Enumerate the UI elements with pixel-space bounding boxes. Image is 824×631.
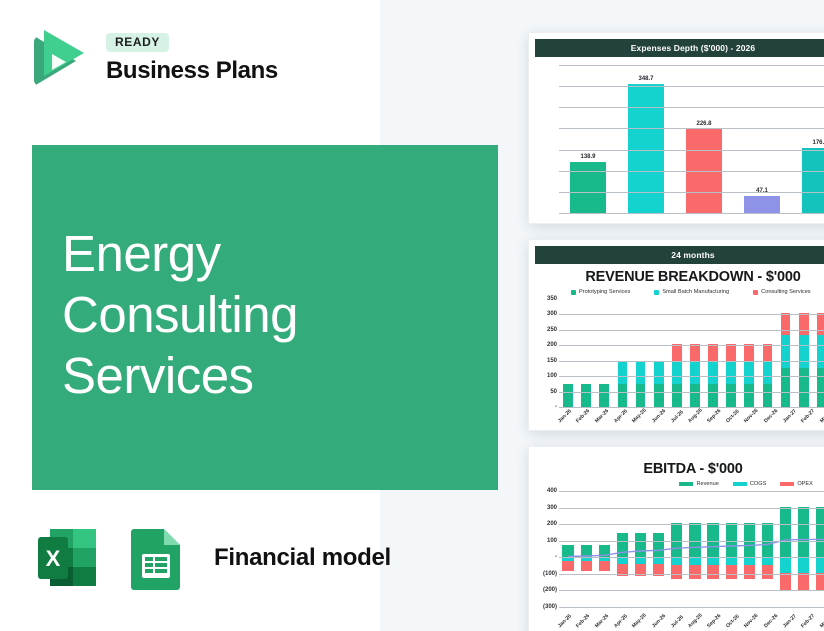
footer-row: X Financial model: [32, 521, 391, 595]
bar-segment: [708, 362, 718, 384]
x-tick-label: Feb-26: [575, 613, 591, 629]
bar-value-label: 348.7: [638, 76, 653, 82]
brand-logo[interactable]: READY Business Plans: [30, 28, 278, 90]
bar-segment: [563, 384, 573, 407]
chart-3-title: EBITDA - $'000: [529, 461, 824, 477]
x-tick-label: Mar-27: [819, 613, 824, 629]
bar-segment: [690, 344, 700, 363]
legend-item: Small Batch Manufacturing: [654, 289, 729, 295]
x-tick-label: Mar-27: [819, 408, 824, 424]
y-tick: 300: [547, 311, 557, 317]
legend-item: Revenue: [679, 481, 718, 487]
bar-segment: [781, 335, 791, 367]
chart-1-title: Expenses Depth ($'000) - 2026: [535, 39, 824, 57]
bar: 348.7: [628, 84, 664, 213]
x-tick-label: Jun-26: [651, 408, 667, 424]
bar-segment: [744, 362, 754, 384]
legend-item: Prototyping Services: [571, 289, 630, 295]
chart-3-xaxis: Jan-26Feb-26Mar-26Apr-26May-26Jun-26Jul-…: [555, 625, 824, 631]
chart-3-legend: RevenueCOGSOPEX0: [529, 481, 824, 487]
hero-panel: Energy Consulting Services: [32, 145, 498, 490]
page-title: Energy Consulting Services: [62, 223, 298, 407]
bar-segment: [654, 362, 664, 384]
chart-2-title: REVENUE BREAKDOWN - $'000: [529, 269, 824, 285]
svg-text:X: X: [46, 546, 61, 571]
bar-segment: [654, 384, 664, 407]
bar-column: 226.8: [675, 65, 733, 213]
chart-3-plot: 400300200100-(100)(200)(300): [533, 491, 824, 607]
bar-segment: [763, 384, 773, 407]
bar-segment: [781, 368, 791, 407]
bar-segment: [726, 344, 736, 363]
y-tick: (300): [543, 604, 557, 610]
play-triangle-logo-icon: [30, 28, 92, 90]
x-tick-label: Jan-27: [782, 408, 798, 424]
bar-segment: [708, 384, 718, 407]
bar-segment: [763, 362, 773, 384]
chart-card-revenue-breakdown[interactable]: 24 months REVENUE BREAKDOWN - $'000 Prot…: [528, 239, 824, 431]
y-tick: 100: [547, 373, 557, 379]
legend-item: OPEX: [780, 481, 813, 487]
bar-segment: [799, 335, 809, 367]
y-tick: -: [555, 554, 557, 560]
chart-2-header: 24 months: [535, 246, 824, 264]
x-tick-label: May-26: [631, 408, 648, 425]
x-tick-label: Nov-26: [743, 613, 759, 629]
chart-2-legend: Prototyping ServicesSmall Batch Manufact…: [529, 289, 824, 295]
y-tick: 400: [547, 488, 557, 494]
bar-segment: [636, 362, 646, 384]
bar: 47.1: [744, 196, 780, 213]
slide-canvas: READY Business Plans Energy Consulting S…: [0, 0, 824, 631]
x-tick-label: Dec-26: [763, 408, 779, 424]
x-tick-label: Feb-26: [575, 408, 591, 424]
bar-segment: [618, 384, 628, 407]
x-tick-label: Jul-26: [670, 409, 685, 424]
chart-card-ebitda[interactable]: EBITDA - $'000 RevenueCOGSOPEX0 40030020…: [528, 446, 824, 631]
bar-segment: [781, 313, 791, 335]
bar-column: 176.5: [791, 65, 824, 213]
bar-column: 348.7: [617, 65, 675, 213]
bar-segment: [690, 362, 700, 384]
bar-segment: [636, 384, 646, 407]
bar-segment: [744, 344, 754, 363]
brand-name: Business Plans: [106, 57, 278, 85]
x-tick-label: Oct-26: [725, 409, 741, 425]
y-tick: 350: [547, 296, 557, 302]
x-tick-label: Sep-26: [706, 408, 722, 424]
x-tick-label: Feb-27: [800, 613, 816, 629]
bar-segment: [672, 384, 682, 407]
y-tick: 50: [550, 389, 557, 395]
x-tick-label: Mar-26: [594, 613, 610, 629]
chart-card-expenses-depth[interactable]: Expenses Depth ($'000) - 2026 138.9348.7…: [528, 32, 824, 224]
y-tick: (100): [543, 571, 557, 577]
x-tick-label: Feb-27: [800, 408, 816, 424]
financial-model-label: Financial model: [214, 544, 391, 572]
bar-segment: [672, 362, 682, 384]
bar-segment: [581, 384, 591, 407]
x-tick-label: Jan-27: [782, 613, 798, 629]
bar-segment: [744, 384, 754, 407]
microsoft-excel-icon[interactable]: X: [32, 521, 106, 595]
x-tick-label: Sep-26: [706, 613, 722, 629]
bar-segment: [817, 368, 824, 407]
bar-segment: [817, 313, 824, 335]
ready-badge: READY: [106, 33, 169, 52]
y-tick: 200: [547, 342, 557, 348]
y-tick: 100: [547, 538, 557, 544]
y-tick: 150: [547, 358, 557, 364]
x-tick-label: Aug-26: [687, 613, 704, 630]
y-tick: 300: [547, 505, 557, 511]
bar-segment: [672, 344, 682, 363]
bar-segment: [799, 313, 809, 335]
bar-segment: [799, 368, 809, 407]
x-tick-label: Mar-26: [594, 408, 610, 424]
bar-segment: [817, 335, 824, 367]
x-tick-label: Jan-26: [557, 408, 573, 424]
bar-column: 47.1: [733, 65, 791, 213]
x-tick-label: Dec-26: [763, 613, 779, 629]
x-tick-label: Oct-26: [725, 614, 741, 630]
legend-item: COGS: [733, 481, 766, 487]
y-tick: -: [555, 404, 557, 410]
bar-segment: [763, 344, 773, 363]
x-tick-label: Aug-26: [687, 408, 704, 425]
bar: 138.9: [570, 162, 606, 213]
google-sheets-icon[interactable]: [120, 521, 194, 595]
bar-segment: [708, 344, 718, 363]
x-tick-label: Apr-26: [613, 408, 629, 424]
bar-segment: [726, 384, 736, 407]
bar-value-label: 226.8: [696, 121, 711, 127]
chart-1-plot: 138.9348.7226.847.1176.5: [533, 65, 824, 213]
chart-2-xaxis: Jan-26Feb-26Mar-26Apr-26May-26Jun-26Jul-…: [555, 420, 824, 426]
y-tick: (200): [543, 587, 557, 593]
x-tick-label: Jun-26: [651, 613, 667, 629]
bar-value-label: 138.9: [580, 154, 595, 160]
bar-value-label: 176.5: [812, 140, 824, 146]
legend-item: Consulting Services: [753, 289, 810, 295]
x-tick-label: May-26: [631, 613, 648, 630]
bar-segment: [618, 362, 628, 384]
x-tick-label: Jan-26: [557, 613, 573, 629]
y-tick: 200: [547, 521, 557, 527]
y-tick: 250: [547, 327, 557, 333]
bar-segment: [690, 384, 700, 407]
bar-segment: [599, 384, 609, 407]
x-tick-label: Jul-26: [670, 614, 685, 629]
x-tick-label: Nov-26: [743, 408, 759, 424]
chart-2-plot: 35030025020015010050-: [533, 299, 824, 407]
bar-column: 138.9: [559, 65, 617, 213]
bar: 176.5: [802, 148, 824, 213]
bar-segment: [726, 362, 736, 384]
x-tick-label: Apr-26: [613, 613, 629, 629]
